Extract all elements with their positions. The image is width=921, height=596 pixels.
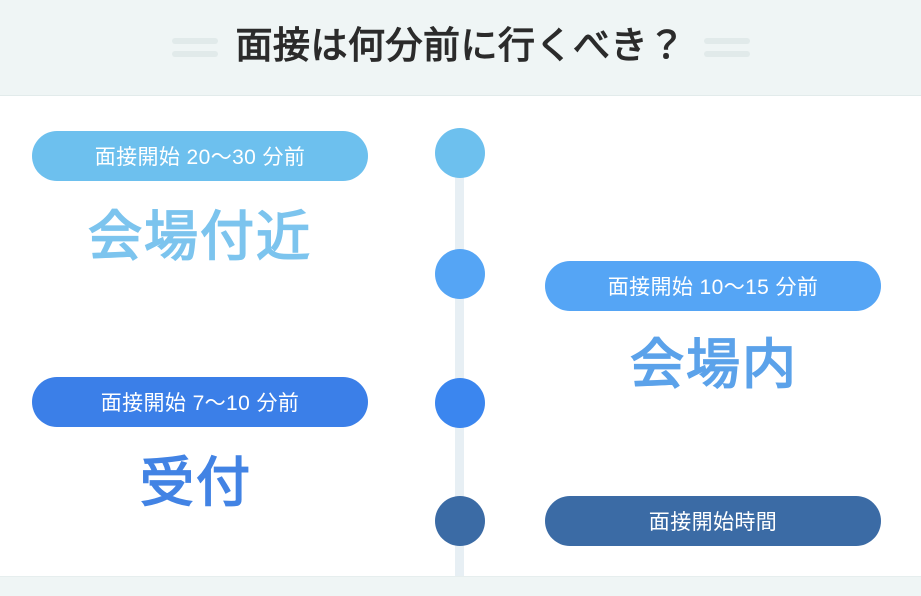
dash-icon xyxy=(172,51,218,57)
step-2-time-pill: 面接開始 10〜15 分前 xyxy=(545,261,881,311)
timeline-dot-1 xyxy=(435,128,485,178)
dash-icon xyxy=(172,38,218,44)
decoration-dashes-left-icon xyxy=(172,38,218,57)
timeline-dot-2 xyxy=(435,249,485,299)
step-1-heading: 会場付近 xyxy=(88,208,312,267)
step-3-time-pill: 面接開始 7〜10 分前 xyxy=(32,377,368,427)
footer-band xyxy=(0,576,921,596)
timeline-diagram: 面接開始 20〜30 分前 会場付近 面接開始 10〜15 分前 会場内 面接開… xyxy=(0,96,921,576)
step-1-time-pill: 面接開始 20〜30 分前 xyxy=(32,131,368,181)
dash-icon xyxy=(704,51,750,57)
dash-icon xyxy=(704,38,750,44)
step-4-time-pill: 面接開始時間 xyxy=(545,496,881,546)
decoration-dashes-right-icon xyxy=(704,38,750,57)
timeline-dot-4 xyxy=(435,496,485,546)
header-band: 面接は何分前に行くべき？ xyxy=(0,0,921,96)
page-title: 面接は何分前に行くべき？ xyxy=(236,27,686,68)
timeline-dot-3 xyxy=(435,378,485,428)
step-3-heading: 受付 xyxy=(140,454,252,513)
step-2-heading: 会場内 xyxy=(630,336,798,395)
